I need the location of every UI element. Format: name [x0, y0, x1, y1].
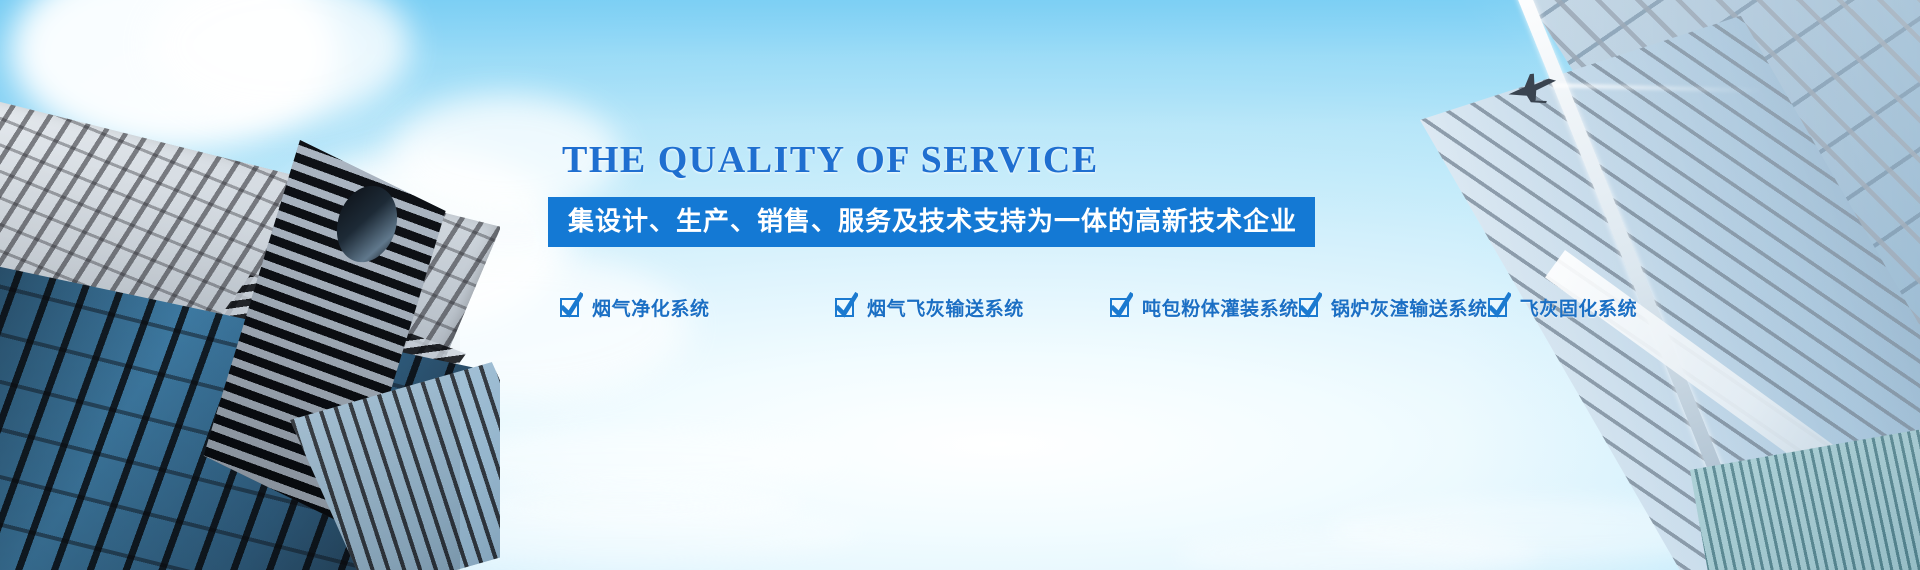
feature-item[interactable]: 吨包粉体灌装系统 [1110, 294, 1299, 321]
checkbox-checked-icon [1488, 298, 1507, 317]
feature-label: 吨包粉体灌装系统 [1142, 294, 1299, 321]
feature-label: 烟气净化系统 [592, 294, 710, 321]
hero-banner: THE QUALITY OF SERVICE 集设计、生产、销售、服务及技术支持… [0, 0, 1920, 570]
headline-english: THE QUALITY OF SERVICE [562, 140, 1460, 182]
feature-item[interactable]: 锅炉灰渣输送系统 [1299, 294, 1488, 321]
feature-label: 烟气飞灰输送系统 [867, 294, 1024, 321]
banner-text-block: THE QUALITY OF SERVICE 集设计、生产、销售、服务及技术支持… [560, 140, 1460, 331]
feature-label: 飞灰固化系统 [1520, 294, 1638, 321]
checkbox-checked-icon [560, 298, 579, 317]
checkbox-checked-icon [835, 298, 854, 317]
feature-label: 锅炉灰渣输送系统 [1331, 294, 1488, 321]
left-skyscraper [0, 0, 500, 570]
checkbox-checked-icon [1110, 298, 1129, 317]
feature-list: 烟气净化系统 烟气飞灰输送系统 吨包粉体灌装系统 锅炉灰渣输送系统 [560, 283, 1460, 331]
feature-item[interactable]: 烟气净化系统 [560, 294, 835, 321]
tagline-banner: 集设计、生产、销售、服务及技术支持为一体的高新技术企业 [548, 197, 1315, 247]
feature-item[interactable]: 烟气飞灰输送系统 [835, 294, 1110, 321]
checkbox-checked-icon [1299, 298, 1318, 317]
feature-item[interactable]: 飞灰固化系统 [1488, 294, 1638, 321]
